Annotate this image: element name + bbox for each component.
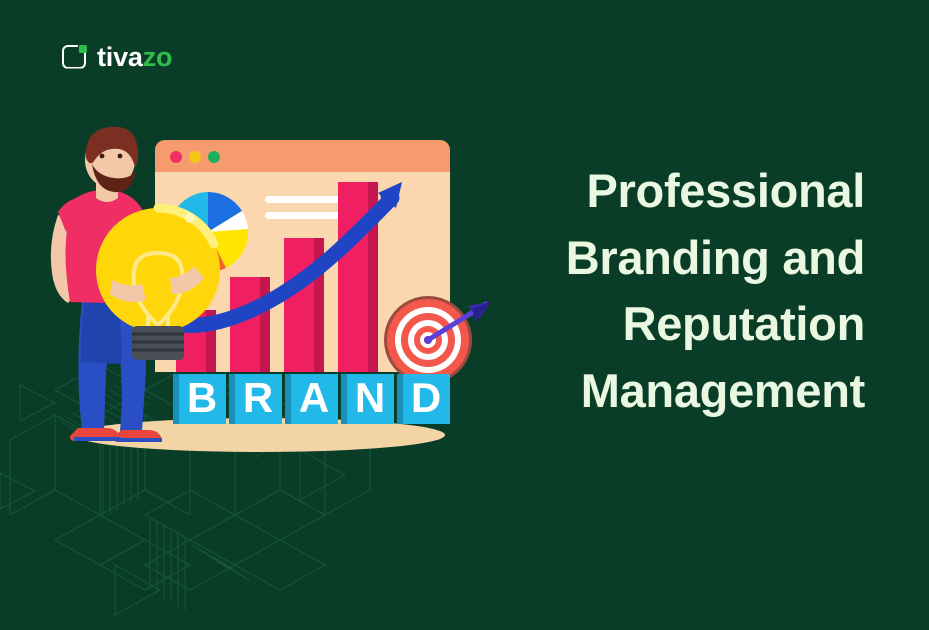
brand-letter-blocks: B R A N D — [173, 374, 450, 424]
tivazo-bracket-icon — [62, 45, 88, 71]
svg-text:D: D — [411, 374, 441, 421]
svg-text:B: B — [187, 374, 217, 421]
svg-text:A: A — [299, 374, 329, 421]
brand-name-accent: zo — [143, 42, 173, 72]
brand-name-primary: tiva — [97, 42, 143, 72]
svg-text:N: N — [355, 374, 385, 421]
brand-name: tivazo — [97, 44, 172, 71]
branding-growth-illustration: B R A N D — [40, 120, 500, 460]
target-bullseye — [384, 296, 490, 384]
page-title: Professional Branding and Reputation Man… — [445, 158, 865, 425]
svg-text:R: R — [243, 374, 273, 421]
brand-logo[interactable]: tivazo — [62, 44, 172, 71]
